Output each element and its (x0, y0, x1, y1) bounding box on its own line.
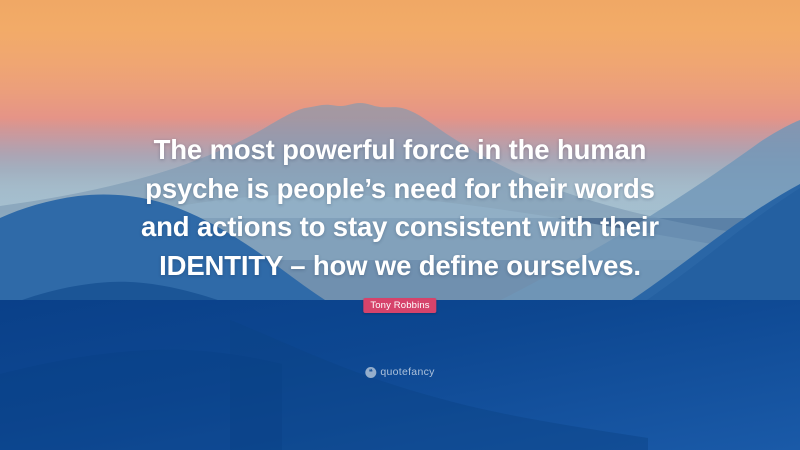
quotefancy-logo-icon: ❝ (365, 367, 376, 378)
quote-text: The most powerful force in the human psy… (0, 131, 800, 285)
watermark-brand-label: quotefancy (380, 366, 434, 378)
author-badge[interactable]: Tony Robbins (363, 298, 436, 313)
watermark[interactable]: ❝ quotefancy (365, 366, 434, 378)
quote-wallpaper: The most powerful force in the human psy… (0, 0, 800, 450)
foreground-shading (0, 320, 800, 450)
